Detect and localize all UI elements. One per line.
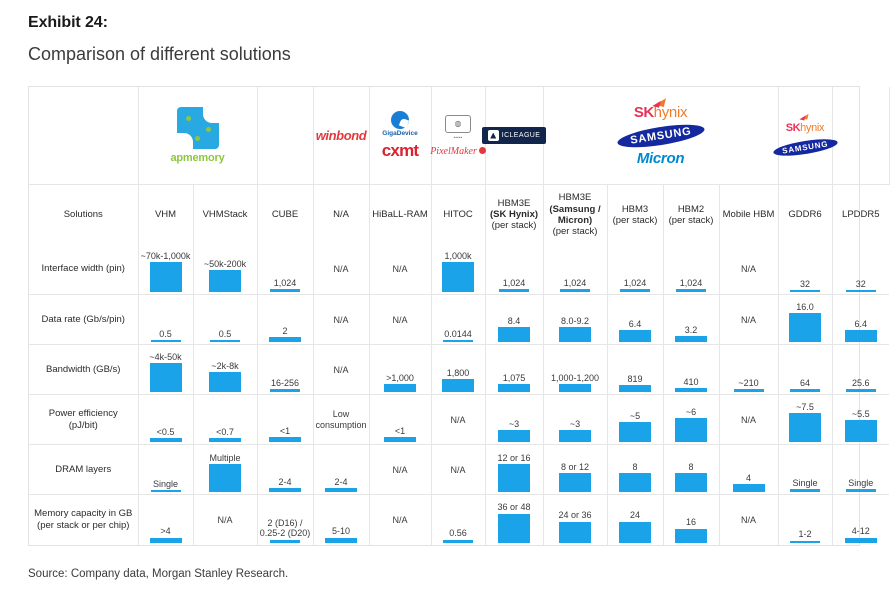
value-bar	[498, 430, 530, 442]
value-bar	[560, 289, 590, 292]
header-solutions-label: Solutions	[29, 185, 138, 245]
row-label-cell: Bandwidth (GB/s)	[29, 345, 138, 395]
bar-value-label: <1	[280, 426, 290, 436]
data-cell: N/A	[193, 495, 257, 545]
data-cell: 819	[607, 345, 663, 395]
data-cell: N/A	[313, 245, 369, 295]
data-cell: 1,024	[485, 245, 543, 295]
gigadevice-logo-text: GigaDevice	[382, 130, 417, 137]
bar-value-label: 24	[630, 510, 640, 520]
bar-value-label: 1,024	[274, 278, 297, 288]
header-name: HBM2	[678, 204, 704, 215]
header-unit: (per stack)	[492, 220, 537, 231]
page-title: Exhibit 24:	[28, 14, 108, 32]
data-cell: N/A	[719, 245, 778, 295]
row-label-cell: DRAM layers	[29, 445, 138, 495]
value-bar	[270, 540, 300, 543]
header-vendor: (Samsung /Micron)	[549, 204, 600, 226]
bar-value-label: 4	[746, 473, 751, 483]
logo-cell-winbond: winbond	[313, 87, 369, 185]
value-bar	[675, 336, 707, 342]
data-cell: 16.0	[778, 295, 832, 345]
row-label: Data rate (Gb/s/pin)	[29, 312, 138, 328]
bar-value-label: ~5	[630, 411, 640, 421]
bar-value-label: 5-10	[332, 526, 350, 536]
data-cell: <1	[257, 395, 313, 445]
data-cell: 36 or 48	[485, 495, 543, 545]
value-bar	[559, 473, 591, 492]
logo-cell-mobile-hbm-vendors: SKhynix SAMSUNG	[778, 87, 832, 185]
value-bar	[269, 437, 301, 442]
value-bar	[270, 389, 300, 392]
bar-value-label: ~3	[509, 419, 519, 429]
data-cell: 24	[607, 495, 663, 545]
data-cell: >1,000	[369, 345, 431, 395]
bar-value-label: 6.4	[629, 319, 642, 329]
data-cell: 410	[663, 345, 719, 395]
bar-value-label: >4	[160, 526, 170, 536]
cell-value-na: N/A	[314, 245, 369, 295]
pixelmaker-icon: ◍	[445, 115, 471, 133]
cell-value-na: N/A	[370, 295, 431, 344]
row-label-cell: Power efficiency(pJ/bit)	[29, 395, 138, 445]
value-bar	[209, 372, 241, 392]
value-bar	[384, 384, 416, 392]
data-cell: ~210	[719, 345, 778, 395]
value-bar	[269, 337, 301, 342]
column-header-n-a: N/A	[313, 185, 369, 245]
data-cell: 1,800	[431, 345, 485, 395]
data-cell: 16	[663, 495, 719, 545]
micron-logo: Micron	[637, 150, 684, 167]
data-cell: N/A	[369, 245, 431, 295]
value-bar	[270, 289, 300, 292]
logo-cell-hbm-vendors: SKhynix SAMSUNG Micron	[543, 87, 778, 185]
value-bar	[734, 389, 764, 392]
value-bar	[498, 384, 530, 392]
logo-cell-cube	[257, 87, 313, 185]
column-header-hbm3e: HBM3E(Samsung /Micron)(per stack)	[543, 185, 607, 245]
data-cell: 1,024	[607, 245, 663, 295]
data-cell: 4	[719, 445, 778, 495]
column-header-hbm2: HBM2(per stack)	[663, 185, 719, 245]
row-label-cell: Data rate (Gb/s/pin)	[29, 295, 138, 345]
row-label-cell: Memory capacity in GB(per stack or per c…	[29, 495, 138, 545]
value-bar	[733, 484, 765, 492]
cell-value-na: N/A	[194, 495, 257, 545]
data-cell: 32	[832, 245, 889, 295]
table-row: Data rate (Gb/s/pin)0.50.52N/AN/A0.01448…	[29, 295, 889, 345]
value-bar	[150, 262, 182, 292]
data-cell: Single	[778, 445, 832, 495]
data-cell: 2 (D16) /0.25-2 (D20)	[257, 495, 313, 545]
bar-value-label: 1,024	[624, 278, 647, 288]
value-bar	[499, 289, 529, 292]
value-bar	[442, 379, 474, 392]
cell-value-na: N/A	[370, 245, 431, 295]
data-cell: 0.56	[431, 495, 485, 545]
bar-value-label: ~5.5	[852, 409, 870, 419]
samsung-logo-small: SAMSUNG	[772, 136, 838, 159]
bar-value-label: 1,000-1,200	[551, 373, 599, 383]
value-bar	[443, 540, 473, 543]
sk-hynix-logo: SKhynix	[634, 104, 687, 122]
data-cell: 1,000k	[431, 245, 485, 295]
table-row: Bandwidth (GB/s)~4k-50k~2k-8k16-256N/A>1…	[29, 345, 889, 395]
data-cell: Single	[138, 445, 193, 495]
header-name: LPDDR5	[842, 209, 880, 220]
data-cell: 16-256	[257, 345, 313, 395]
header-vendor: (SK Hynix)	[490, 209, 538, 220]
value-bar	[619, 385, 651, 392]
data-cell: 1,024	[257, 245, 313, 295]
value-bar	[676, 289, 706, 292]
data-cell: N/A	[719, 395, 778, 445]
pixelmaker-sub-text: •••••	[454, 135, 463, 140]
data-cell: N/A	[431, 445, 485, 495]
bar-value-label: 0.0144	[444, 329, 472, 339]
value-bar	[845, 420, 877, 442]
value-bar	[210, 340, 240, 342]
table-row: Interface width (pin)~70k-1,000k~50k-200…	[29, 245, 889, 295]
bar-value-label: 8	[633, 462, 638, 472]
column-header-hbm3: HBM3(per stack)	[607, 185, 663, 245]
value-bar	[675, 388, 707, 392]
row-label: DRAM layers	[29, 462, 138, 478]
header-unit: (per stack)	[613, 215, 658, 226]
header-unit: (per stack)	[669, 215, 714, 226]
value-bar	[559, 522, 591, 543]
logo-cell-apmemory: apmemory	[138, 87, 257, 185]
data-cell: 1,000-1,200	[543, 345, 607, 395]
bar-value-label: 0.5	[159, 329, 172, 339]
row-label: Memory capacity in GB(per stack or per c…	[29, 506, 138, 534]
bar-value-label: 4-12	[852, 526, 870, 536]
column-header-vhm: VHM	[138, 185, 193, 245]
bar-value-label: ~4k-50k	[149, 352, 181, 362]
comparison-table: apmemory winbond GigaDevice cx	[28, 86, 860, 546]
page-subtitle: Comparison of different solutions	[28, 44, 291, 65]
samsung-logo: SAMSUNG	[616, 120, 706, 152]
value-bar	[150, 363, 182, 392]
data-cell: 8	[663, 445, 719, 495]
bar-value-label: 32	[856, 279, 866, 289]
bar-value-label: 0.56	[449, 528, 467, 538]
data-cell: 0.5	[138, 295, 193, 345]
header-name: N/A	[333, 209, 349, 220]
bar-value-label: 24 or 36	[559, 510, 592, 520]
icleague-logo-text: ICLEAGUE	[502, 132, 541, 139]
value-bar	[269, 488, 301, 492]
bar-value-label: Single	[848, 478, 873, 488]
value-bar	[675, 473, 707, 492]
data-cell: 0.0144	[431, 295, 485, 345]
bar-value-label: 1,024	[680, 278, 703, 288]
data-cell: 6.4	[607, 295, 663, 345]
logo-cell-empty	[29, 87, 138, 185]
bar-value-label: <0.5	[157, 427, 175, 437]
bar-value-label: 64	[800, 378, 810, 388]
cell-value-na: N/A	[432, 395, 485, 444]
header-name: HBM3E	[498, 198, 531, 209]
header-name: Mobile HBM	[723, 209, 775, 220]
value-bar	[559, 384, 591, 392]
value-bar	[150, 538, 182, 543]
cell-value-na: N/A	[432, 445, 485, 494]
bar-value-label: 0.5	[219, 329, 232, 339]
data-cell: N/A	[313, 295, 369, 345]
data-cell: 64	[778, 345, 832, 395]
value-bar	[559, 430, 591, 442]
bar-value-label: 410	[684, 377, 699, 387]
data-cell: ~7.5	[778, 395, 832, 445]
data-cell: <0.5	[138, 395, 193, 445]
data-cell: N/A	[719, 295, 778, 345]
winbond-logo-text: winbond	[316, 128, 367, 143]
row-label-cell: Interface width (pin)	[29, 245, 138, 295]
value-bar	[209, 270, 241, 292]
bar-value-label: 3.2	[685, 325, 698, 335]
cell-value-na: N/A	[720, 395, 778, 444]
value-bar	[619, 330, 651, 342]
table-row: DRAM layersSingleMultiple2-42-4N/AN/A12 …	[29, 445, 889, 495]
data-cell: 3.2	[663, 295, 719, 345]
bar-value-label: ~50k-200k	[204, 259, 246, 269]
cell-value-text: Lowconsumption	[314, 395, 369, 444]
bar-value-label: 8.4	[508, 316, 521, 326]
value-bar	[790, 489, 820, 492]
value-bar	[498, 514, 530, 543]
column-header-mobile-hbm: Mobile HBM	[719, 185, 778, 245]
bar-value-label: 8	[689, 462, 694, 472]
bar-value-label: 1,800	[447, 368, 470, 378]
value-bar	[789, 313, 821, 342]
bar-value-label: ~7.5	[796, 402, 814, 412]
header-name: GDDR6	[788, 209, 821, 220]
value-bar	[790, 541, 820, 543]
bar-value-label: <1	[395, 426, 405, 436]
value-bar	[443, 340, 473, 342]
bar-value-label: 8 or 12	[561, 462, 589, 472]
apmemory-icon	[177, 107, 219, 149]
header-name: HiBaLL-RAM	[372, 209, 427, 220]
data-cell: ~3	[543, 395, 607, 445]
cell-value-na: N/A	[314, 295, 369, 344]
data-cell: ~70k-1,000k	[138, 245, 193, 295]
bar-value-label: 16	[686, 517, 696, 527]
exhibit-page: Exhibit 24: Comparison of different solu…	[0, 0, 891, 594]
bar-value-label: Single	[153, 479, 178, 489]
row-label: Bandwidth (GB/s)	[29, 362, 138, 378]
data-cell: 1-2	[778, 495, 832, 545]
bar-value-label: 6.4	[855, 319, 868, 329]
cell-value-na: N/A	[370, 445, 431, 494]
data-cell: ~5	[607, 395, 663, 445]
value-bar	[209, 438, 241, 442]
value-bar	[845, 538, 877, 543]
data-cell: ~50k-200k	[193, 245, 257, 295]
bar-value-label: 2	[283, 326, 288, 336]
data-cell: Single	[832, 445, 889, 495]
bar-value-label: 16.0	[796, 302, 814, 312]
bar-value-label: 12 or 16	[498, 453, 531, 463]
column-header-cube: CUBE	[257, 185, 313, 245]
bar-value-label: 2-4	[335, 477, 348, 487]
header-name: HBM3E	[559, 192, 592, 203]
data-cell: N/A	[719, 495, 778, 545]
bar-value-label: 819	[628, 374, 643, 384]
data-cell: N/A	[431, 395, 485, 445]
value-bar	[150, 438, 182, 442]
data-cell: 4-12	[832, 495, 889, 545]
value-bar	[498, 464, 530, 492]
value-bar	[619, 473, 651, 492]
data-cell: N/A	[369, 295, 431, 345]
cell-value-na: N/A	[314, 345, 369, 394]
data-cell: N/A	[369, 495, 431, 545]
data-cell: 0.5	[193, 295, 257, 345]
icleague-icon	[488, 130, 499, 141]
row-label: Interface width (pin)	[29, 261, 138, 277]
data-cell: ~2k-8k	[193, 345, 257, 395]
data-cell: Multiple	[193, 445, 257, 495]
data-cell: 32	[778, 245, 832, 295]
data-cell: N/A	[313, 345, 369, 395]
column-header-row: SolutionsVHMVHMStackCUBEN/AHiBaLL-RAMHIT…	[29, 185, 889, 245]
bar-value-label: Multiple	[210, 453, 241, 463]
bar-value-label: 32	[800, 279, 810, 289]
value-bar	[619, 522, 651, 543]
header-name: HBM3	[622, 204, 648, 215]
logo-cell-gddr6	[832, 87, 889, 185]
table-row: Power efficiency(pJ/bit)<0.5<0.7<1Lowcon…	[29, 395, 889, 445]
data-cell: 25.6	[832, 345, 889, 395]
data-cell: ~3	[485, 395, 543, 445]
value-bar	[619, 422, 651, 442]
value-bar	[498, 327, 530, 342]
value-bar	[384, 437, 416, 442]
value-bar	[845, 330, 877, 342]
logo-cell-icleague: ICLEAGUE	[485, 87, 543, 185]
pixelmaker-logo-text: PixelMaker	[430, 146, 486, 157]
value-bar	[846, 389, 876, 392]
header-name: CUBE	[272, 209, 298, 220]
header-name: VHMStack	[203, 209, 248, 220]
header-unit: (per stack)	[553, 226, 598, 237]
bar-value-label: 16-256	[271, 378, 299, 388]
column-header-hbm3e: HBM3E(SK Hynix)(per stack)	[485, 185, 543, 245]
bar-value-label: 1,000k	[445, 251, 472, 261]
apmemory-logo-text: apmemory	[170, 152, 224, 164]
bar-value-label: ~3	[570, 419, 580, 429]
cell-value-na: N/A	[720, 295, 778, 344]
column-header-hiball-ram: HiBaLL-RAM	[369, 185, 431, 245]
value-bar	[675, 418, 707, 442]
value-bar	[846, 290, 876, 292]
sk-hynix-logo-small: SKhynix	[786, 118, 824, 136]
value-bar	[675, 529, 707, 543]
data-cell: 12 or 16	[485, 445, 543, 495]
value-bar	[325, 488, 357, 492]
bar-value-label: 2 (D16) /0.25-2 (D20)	[260, 518, 311, 539]
value-bar	[790, 290, 820, 292]
bar-value-label: Single	[793, 478, 818, 488]
gigadevice-icon	[391, 111, 409, 129]
cell-value-na: N/A	[370, 495, 431, 545]
data-cell: <1	[369, 395, 431, 445]
data-cell: ~5.5	[832, 395, 889, 445]
bar-value-label: 1,075	[503, 373, 526, 383]
data-cell: ~4k-50k	[138, 345, 193, 395]
column-header-gddr6: GDDR6	[778, 185, 832, 245]
bar-value-label: ~210	[738, 378, 758, 388]
bar-value-label: ~70k-1,000k	[141, 251, 191, 261]
data-cell: 8.0-9.2	[543, 295, 607, 345]
value-bar	[325, 538, 357, 543]
value-bar	[559, 327, 591, 342]
value-bar	[151, 340, 181, 342]
logo-row: apmemory winbond GigaDevice cx	[29, 87, 889, 185]
value-bar	[789, 413, 821, 442]
data-cell: 1,024	[543, 245, 607, 295]
table-row: Memory capacity in GB(per stack or per c…	[29, 495, 889, 545]
source-note: Source: Company data, Morgan Stanley Res…	[28, 568, 288, 580]
cell-value-na: N/A	[720, 245, 778, 295]
logo-cell-pixelmaker: ◍ ••••• PixelMaker	[431, 87, 485, 185]
data-cell: 2-4	[257, 445, 313, 495]
data-cell: 8	[607, 445, 663, 495]
data-cell: 2	[257, 295, 313, 345]
cxmt-logo-text: cxmt	[382, 141, 419, 161]
bar-value-label: 25.6	[852, 378, 870, 388]
data-cell: N/A	[369, 445, 431, 495]
bar-value-label: ~2k-8k	[211, 361, 238, 371]
data-cell: 8.4	[485, 295, 543, 345]
data-cell: ~6	[663, 395, 719, 445]
bar-value-label: 1,024	[503, 278, 526, 288]
cell-value-na: N/A	[720, 495, 778, 545]
bar-value-label: 8.0-9.2	[561, 316, 589, 326]
bar-value-label: 36 or 48	[498, 502, 531, 512]
bar-value-label: 1,024	[564, 278, 587, 288]
value-bar	[151, 490, 181, 492]
bar-value-label: <0.7	[216, 427, 234, 437]
header-name: VHM	[155, 209, 176, 220]
header-name: HITOC	[443, 209, 472, 220]
value-bar	[442, 262, 474, 292]
column-header-vhmstack: VHMStack	[193, 185, 257, 245]
bar-value-label: 2-4	[279, 477, 292, 487]
logo-cell-gigadevice-cxmt: GigaDevice cxmt	[369, 87, 431, 185]
value-bar	[846, 489, 876, 492]
data-cell: 24 or 36	[543, 495, 607, 545]
column-header-hitoc: HITOC	[431, 185, 485, 245]
value-bar	[620, 289, 650, 292]
data-cell: <0.7	[193, 395, 257, 445]
data-cell: 8 or 12	[543, 445, 607, 495]
data-cell: 6.4	[832, 295, 889, 345]
column-header-lpddr5: LPDDR5	[832, 185, 889, 245]
value-bar	[790, 389, 820, 392]
data-cell: >4	[138, 495, 193, 545]
bar-value-label: >1,000	[386, 373, 414, 383]
data-cell: 5-10	[313, 495, 369, 545]
data-cell: 1,075	[485, 345, 543, 395]
row-label: Power efficiency(pJ/bit)	[29, 406, 138, 434]
data-cell: Lowconsumption	[313, 395, 369, 445]
data-cell: 1,024	[663, 245, 719, 295]
value-bar	[209, 464, 241, 492]
